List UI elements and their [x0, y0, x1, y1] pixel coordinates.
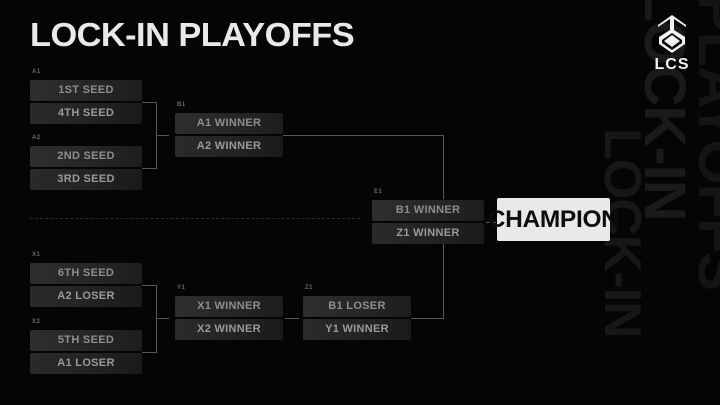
match-a1-slot-bottom[interactable]: 4TH SEED: [30, 103, 142, 124]
match-final[interactable]: E1 B1 WINNER Z1 WINNER: [372, 200, 484, 244]
match-z1[interactable]: Z1 B1 LOSER Y1 WINNER: [303, 296, 411, 340]
match-z1-label: Z1: [305, 285, 313, 291]
match-a2-slot-bottom[interactable]: 3RD SEED: [30, 169, 142, 190]
connector-x1-out: [142, 285, 156, 286]
champion-label: CHAMPION: [488, 206, 619, 234]
connector-x-merge: [156, 285, 157, 353]
match-x1-slot-bottom[interactable]: A2 LOSER: [30, 286, 142, 307]
connector-z1-out: [411, 318, 443, 319]
match-x2-slot-top[interactable]: 5TH SEED: [30, 330, 142, 351]
connector-final-lower: [443, 240, 444, 319]
match-x2-slot-bottom[interactable]: A1 LOSER: [30, 353, 142, 374]
champion-box: CHAMPION: [497, 198, 610, 241]
connector-final-upper: [443, 135, 444, 199]
match-a2-label: A2: [32, 135, 41, 141]
connector-b1-in: [156, 135, 169, 136]
connector-a2-out: [142, 168, 156, 169]
match-a1[interactable]: A1 1ST SEED 4TH SEED: [30, 80, 142, 124]
match-final-label: E1: [374, 189, 382, 195]
match-a1-slot-top[interactable]: 1ST SEED: [30, 80, 142, 101]
match-b1[interactable]: B1 A1 WINNER A2 WINNER: [175, 113, 283, 157]
match-x1-slot-top[interactable]: 6TH SEED: [30, 263, 142, 284]
match-x2[interactable]: X2 5TH SEED A1 LOSER: [30, 330, 142, 374]
match-y1-slot-top[interactable]: X1 WINNER: [175, 296, 283, 317]
match-a1-label: A1: [32, 69, 41, 75]
match-y1-slot-bottom[interactable]: X2 WINNER: [175, 319, 283, 340]
bracket-canvas: LOCK-IN PLAYOFFS LOCK-IN LCS LOCK-IN PLA…: [0, 0, 720, 405]
connector-x2-out: [142, 352, 156, 353]
lcs-wordmark: LCS: [644, 56, 700, 74]
lcs-diamond-icon: [655, 14, 689, 54]
connector-y1-in: [156, 318, 169, 319]
match-a2[interactable]: A2 2ND SEED 3RD SEED: [30, 146, 142, 190]
match-y1[interactable]: Y1 X1 WINNER X2 WINNER: [175, 296, 283, 340]
match-b1-slot-bottom[interactable]: A2 WINNER: [175, 136, 283, 157]
match-final-slot-bottom[interactable]: Z1 WINNER: [372, 223, 484, 244]
match-z1-slot-bottom[interactable]: Y1 WINNER: [303, 319, 411, 340]
match-b1-label: B1: [177, 102, 186, 108]
bracket-divider: [30, 218, 360, 219]
match-y1-label: Y1: [177, 285, 185, 291]
lcs-logo: LCS: [644, 14, 700, 74]
connector-y1-out: [285, 318, 299, 319]
match-b1-slot-top[interactable]: A1 WINNER: [175, 113, 283, 134]
page-title: LOCK-IN PLAYOFFS: [30, 16, 354, 54]
match-x1[interactable]: X1 6TH SEED A2 LOSER: [30, 263, 142, 307]
match-x1-label: X1: [32, 252, 40, 258]
match-x2-label: X2: [32, 319, 40, 325]
connector-b1-out: [283, 135, 443, 136]
match-a2-slot-top[interactable]: 2ND SEED: [30, 146, 142, 167]
match-z1-slot-top[interactable]: B1 LOSER: [303, 296, 411, 317]
connector-a1-out: [142, 102, 156, 103]
match-final-slot-top[interactable]: B1 WINNER: [372, 200, 484, 221]
